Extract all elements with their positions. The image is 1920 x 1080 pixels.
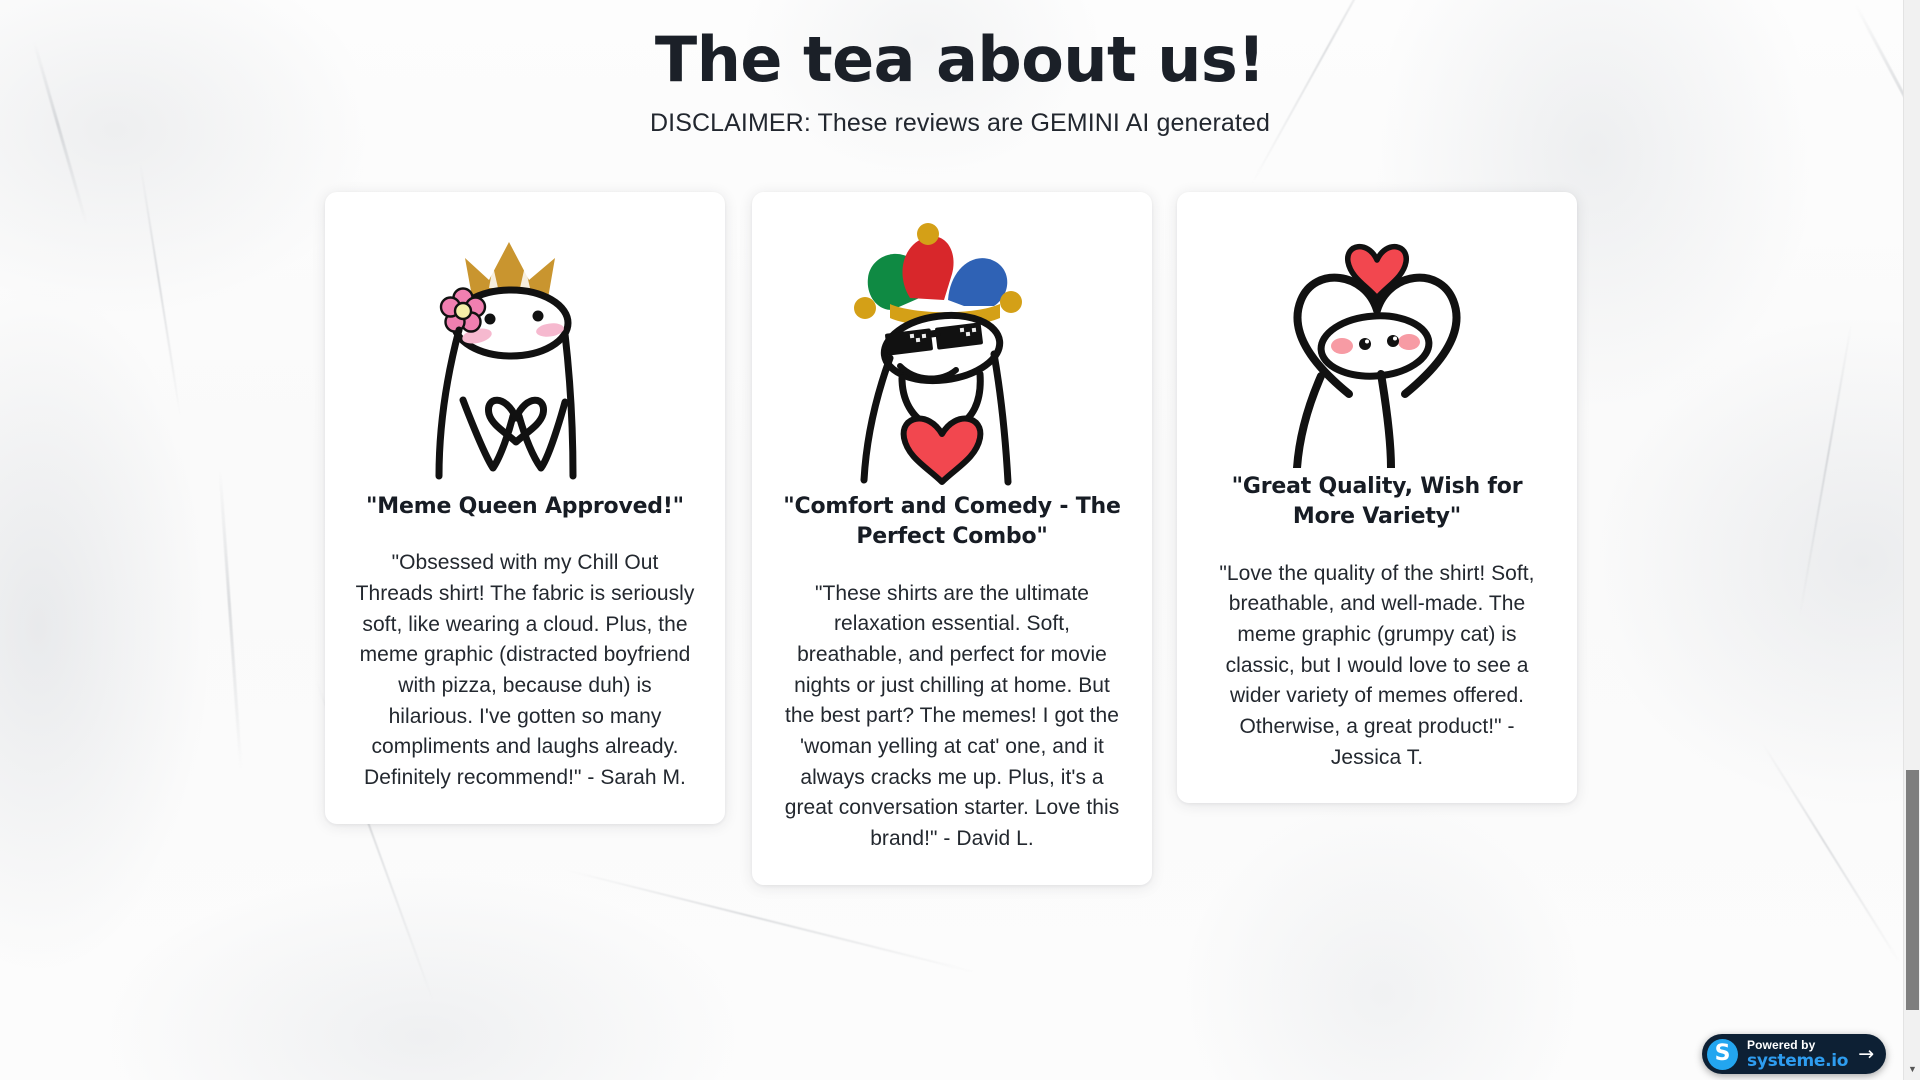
badge-powered-by-label: Powered by xyxy=(1747,1039,1848,1051)
page-root: The tea about us! DISCLAIMER: These revi… xyxy=(0,0,1920,1080)
scroll-down-arrow-icon[interactable]: ▼ xyxy=(1904,1061,1920,1078)
badge-brand-label: systeme.io xyxy=(1747,1053,1848,1070)
testimonial-title: "Comfort and Comedy - The Perfect Combo" xyxy=(782,492,1122,553)
testimonial-body: "These shirts are the ultimate relaxatio… xyxy=(782,579,1122,855)
testimonial-card: "Comfort and Comedy - The Perfect Combo"… xyxy=(752,192,1152,885)
heart-arms-doodle-illustration xyxy=(1257,218,1497,468)
testimonial-card-list: "Meme Queen Approved!" "Obsessed with my… xyxy=(0,0,1920,1080)
scrollbar-thumb[interactable] xyxy=(1906,770,1919,1010)
testimonial-card: "Great Quality, Wish for More Variety" "… xyxy=(1177,192,1577,803)
vertical-scrollbar[interactable]: ▼ xyxy=(1903,0,1920,1080)
testimonial-title: "Meme Queen Approved!" xyxy=(366,492,684,522)
queen-doodle-illustration xyxy=(405,218,645,488)
testimonial-body: "Obsessed with my Chill Out Threads shir… xyxy=(355,548,695,793)
testimonial-card: "Meme Queen Approved!" "Obsessed with my… xyxy=(325,192,725,824)
arrow-right-icon: → xyxy=(1858,1045,1874,1064)
testimonial-title: "Great Quality, Wish for More Variety" xyxy=(1207,472,1547,533)
powered-by-systeme-badge[interactable]: S Powered by systeme.io → xyxy=(1702,1034,1886,1074)
badge-text: Powered by systeme.io xyxy=(1747,1039,1848,1070)
systeme-logo-icon: S xyxy=(1707,1039,1738,1070)
jester-doodle-illustration xyxy=(832,218,1072,488)
testimonial-body: "Love the quality of the shirt! Soft, br… xyxy=(1207,559,1547,774)
